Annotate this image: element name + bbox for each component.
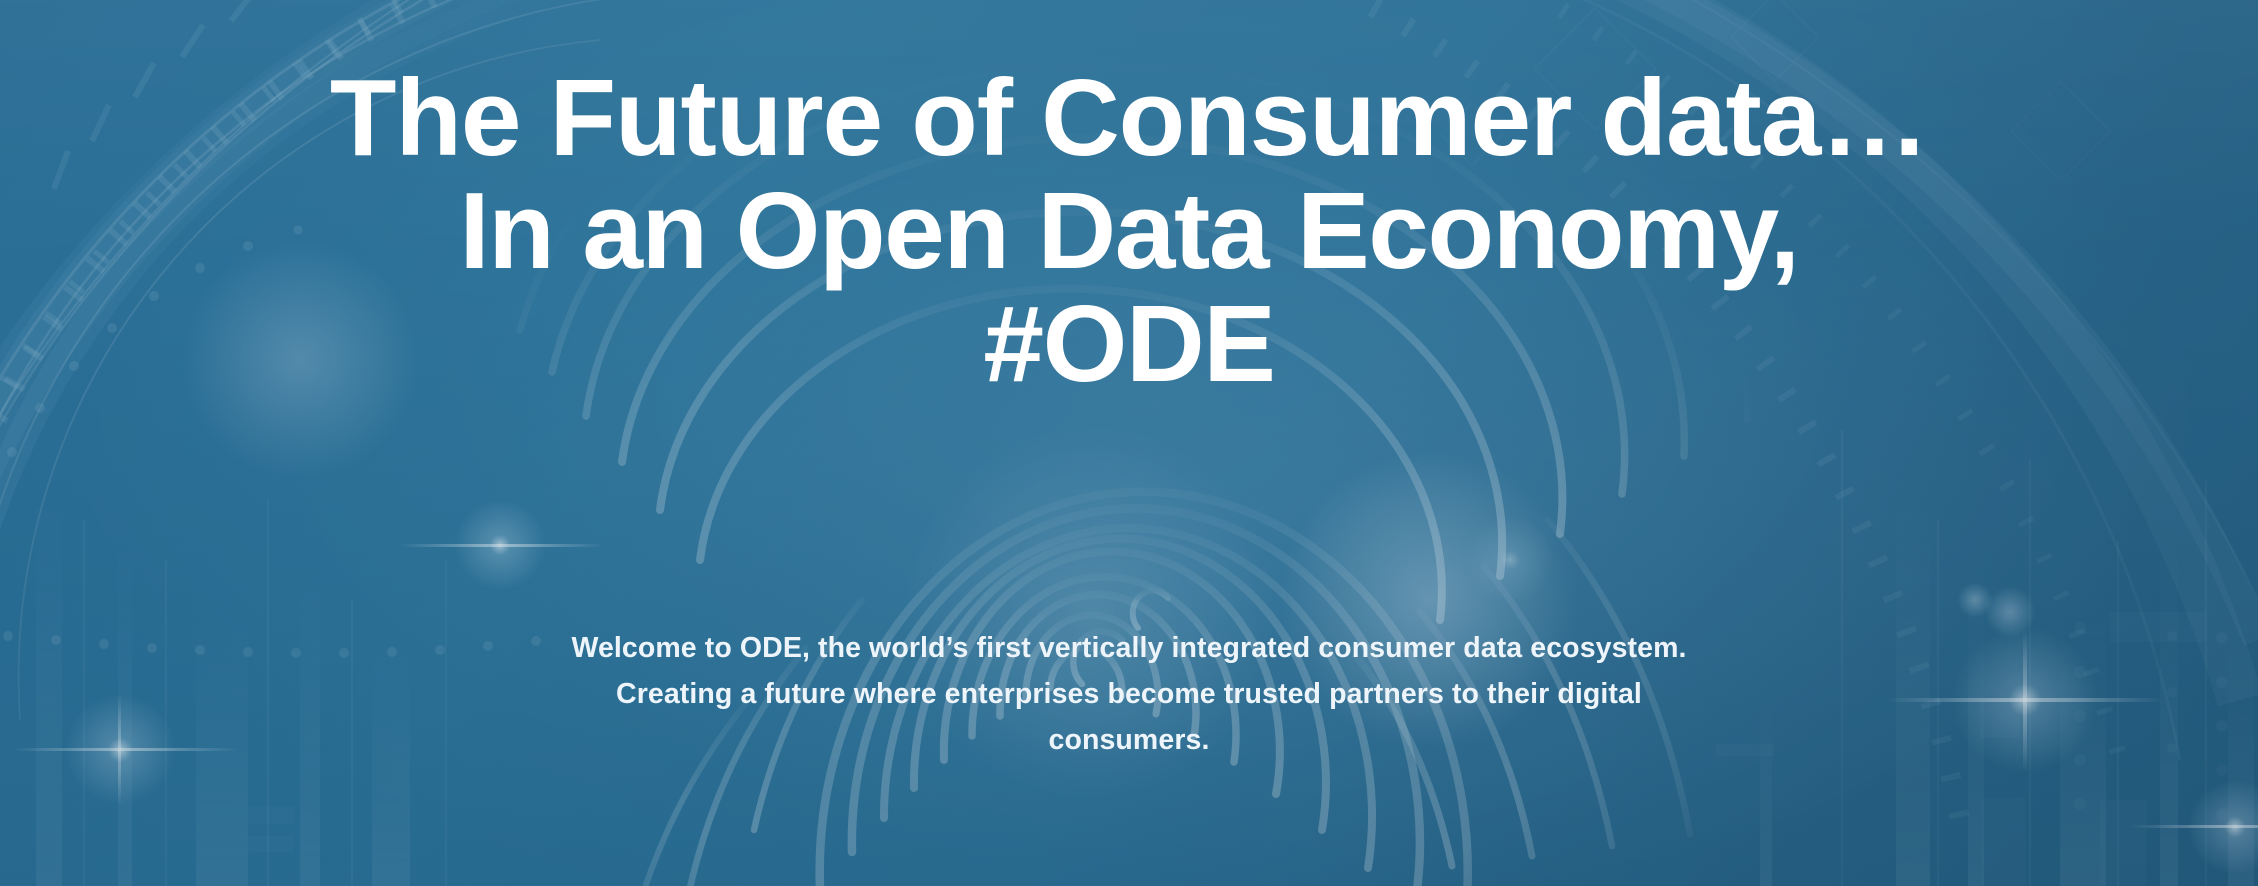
- headline-line-2: In an Open Data Economy,: [0, 175, 2258, 288]
- headline-line-3: #ODE: [0, 288, 2258, 401]
- hero-subcopy: Welcome to ODE, the world’s first vertic…: [269, 625, 1989, 763]
- subcopy-line-3: consumers.: [1049, 724, 1210, 756]
- headline-line-1: The Future of Consumer data…: [0, 62, 2258, 175]
- subcopy-line-1: Welcome to ODE, the world’s first vertic…: [571, 632, 1686, 664]
- hero-banner: The Future of Consumer data… In an Open …: [0, 0, 2258, 886]
- hero-content: The Future of Consumer data… In an Open …: [0, 0, 2258, 886]
- subcopy-line-2: Creating a future where enterprises beco…: [616, 678, 1642, 710]
- hero-headline: The Future of Consumer data… In an Open …: [0, 62, 2258, 401]
